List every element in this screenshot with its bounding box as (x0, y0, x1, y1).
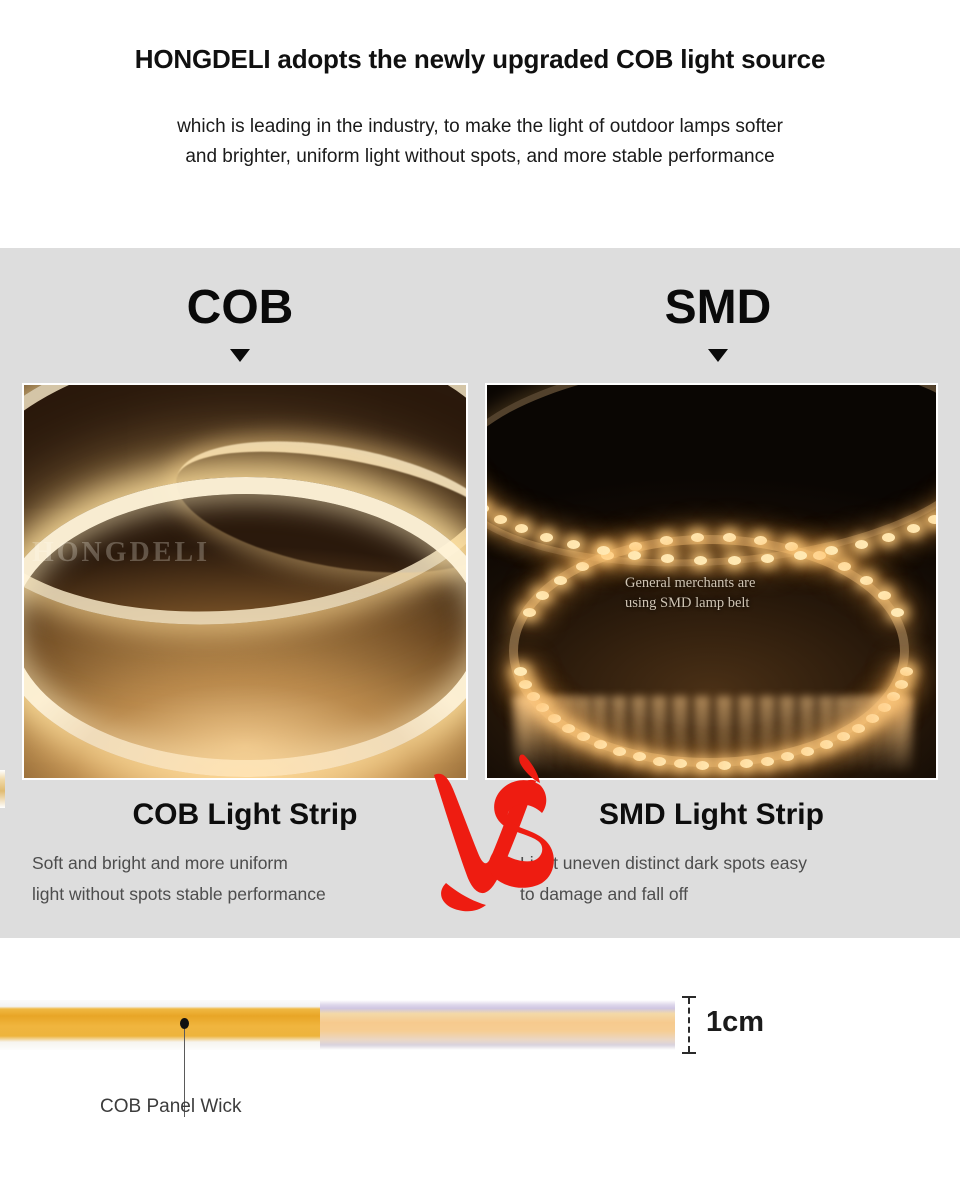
smd-type-label: SMD (628, 280, 808, 335)
smd-led-beam (850, 696, 866, 774)
smd-led-dot (794, 551, 807, 560)
triangle-down-icon-cob (230, 349, 250, 362)
cob-strip-gold-segment (0, 1000, 320, 1050)
subtitle-line-2: and brighter, uniform light without spot… (0, 142, 960, 172)
cob-floor-glow (24, 608, 466, 778)
cob-desc-line-2: light without spots stable performance (32, 879, 472, 910)
callout-dot-icon (180, 1018, 189, 1029)
smd-led-beam (864, 696, 880, 774)
smd-led-dot (878, 591, 891, 600)
smd-desc-line-1: Light uneven distinct dark spots easy (520, 848, 950, 879)
header-section: HONGDELI adopts the newly upgraded COB l… (0, 0, 960, 248)
smd-led-dot (882, 533, 895, 542)
smd-led-beam (779, 696, 795, 774)
smd-led-beam (672, 696, 688, 774)
page-title: HONGDELI adopts the newly upgraded COB l… (0, 44, 960, 75)
cob-strip-diagram (0, 1000, 675, 1050)
smd-led-beam (592, 696, 608, 774)
cob-strip-name: COB Light Strip (22, 798, 468, 832)
dimension-cap-bottom (682, 1052, 696, 1054)
product-detail-page: HONGDELI adopts the newly upgraded COB l… (0, 0, 960, 1192)
triangle-down-icon-smd (708, 349, 728, 362)
smd-led-beam (818, 696, 834, 774)
smd-led-beam (512, 696, 528, 774)
cob-strip-diffuser-segment (320, 1000, 675, 1050)
smd-led-dot (785, 542, 798, 551)
smd-led-beam (799, 696, 815, 774)
smd-strip-name: SMD Light Strip (485, 798, 938, 832)
smd-photo-caption: General merchants are using SMD lamp bel… (625, 573, 835, 613)
smd-led-beam (835, 696, 851, 774)
smd-led-beam (694, 696, 710, 774)
dimension-label: 1cm (706, 1006, 764, 1039)
smd-led-beam (611, 696, 627, 774)
smd-desc-line-2: to damage and fall off (520, 879, 950, 910)
edge-accent-sliver (0, 770, 5, 808)
smd-led-beam (759, 696, 775, 774)
cob-type-label: COB (150, 280, 330, 335)
smd-led-dot (494, 515, 507, 524)
smd-led-dot (519, 680, 532, 689)
cob-strip-description: Soft and bright and more uniform light w… (32, 848, 472, 910)
smd-led-dot (554, 576, 567, 585)
smd-led-beam (738, 696, 754, 774)
smd-led-dot (523, 608, 536, 617)
smd-led-beam (651, 696, 667, 774)
cob-desc-line-1: Soft and bright and more uniform (32, 848, 472, 879)
smd-led-dot (694, 556, 707, 565)
dimension-bracket-icon (682, 996, 696, 1054)
smd-caption-line-2: using SMD lamp belt (625, 595, 749, 611)
smd-led-beam (575, 696, 591, 774)
smd-strip-description: Light uneven distinct dark spots easy to… (520, 848, 950, 910)
smd-led-dot (928, 515, 938, 524)
measurement-section: COB Panel Wick 1cm (0, 938, 960, 1192)
smd-led-beam (716, 696, 732, 774)
smd-led-dot (728, 556, 741, 565)
smd-led-dot (895, 680, 908, 689)
smd-led-dot (891, 608, 904, 617)
comparison-section: COB SMD HONGDELI General merchants are u… (0, 248, 960, 938)
smd-led-dot (813, 551, 826, 560)
smd-led-dot (860, 576, 873, 585)
page-subtitle: which is leading in the industry, to mak… (0, 112, 960, 172)
smd-led-beam (560, 696, 576, 774)
dimension-dashed-line (688, 998, 690, 1052)
cob-panel-wick-label: COB Panel Wick (100, 1096, 241, 1118)
smd-led-dot (540, 533, 553, 542)
smd-caption-line-1: General merchants are (625, 575, 755, 591)
smd-led-beam (631, 696, 647, 774)
subtitle-line-1: which is leading in the industry, to mak… (177, 116, 783, 137)
cob-photo: HONGDELI (22, 383, 468, 780)
smd-photo: General merchants are using SMD lamp bel… (485, 383, 938, 780)
smd-led-dot (661, 554, 674, 563)
